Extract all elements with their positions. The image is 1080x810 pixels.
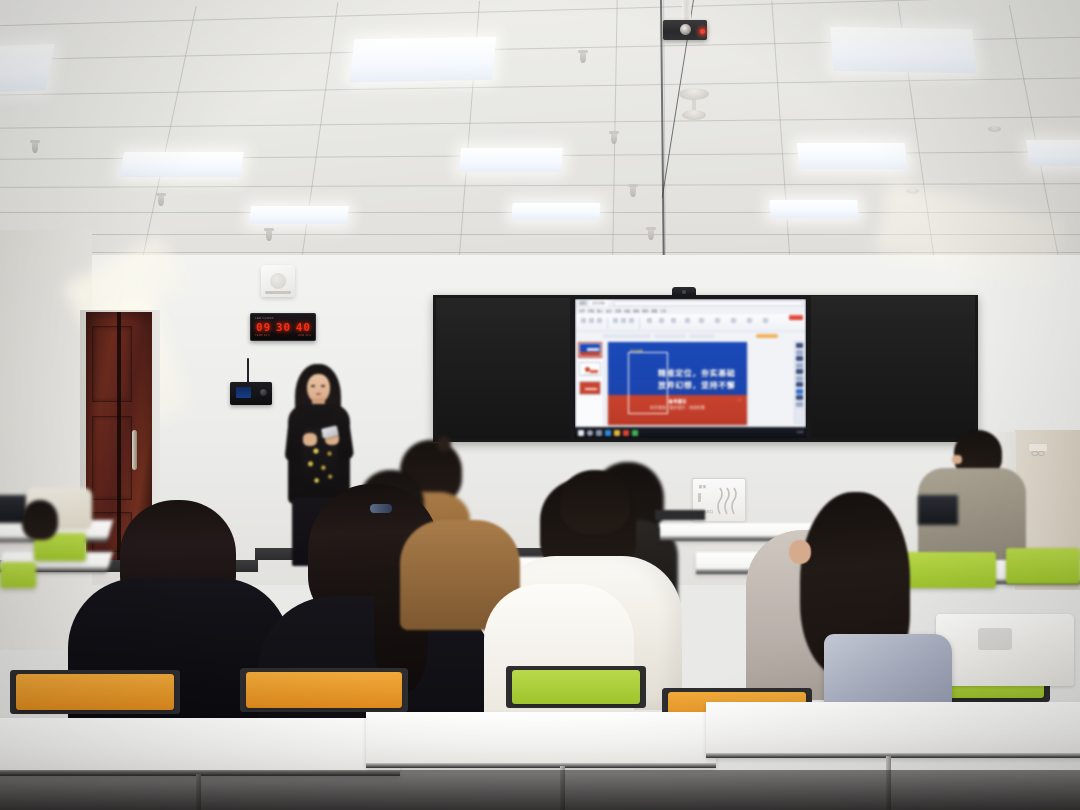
- mic-volume-knob[interactable]: [260, 389, 267, 396]
- slide-thumbnail[interactable]: [579, 381, 601, 395]
- windows-taskbar[interactable]: 9:30: [575, 427, 806, 438]
- clock-temp-label: TEMP 23 C: [255, 334, 270, 339]
- laptop: [918, 495, 958, 525]
- pendant-speaker: [679, 88, 709, 100]
- wall-panel-label-top: 新风: [699, 484, 707, 489]
- slide-thumbnail[interactable]: [579, 343, 601, 357]
- slide-headline-line1: 精准定位，夯实基础: [658, 368, 741, 380]
- led-panel-light: [459, 148, 563, 172]
- menu-item-transition[interactable]: 切换: [615, 309, 621, 313]
- led-wall-clock: LED CLOCK 09 30 40 TEMP 23 C HUM 41%: [250, 313, 316, 341]
- desk: [0, 718, 400, 776]
- wps-icon[interactable]: [623, 430, 629, 436]
- side-toolbar[interactable]: [794, 341, 804, 424]
- task-view-icon[interactable]: [596, 430, 602, 436]
- slide-subtitle-block: 备考建议 科学规划 · 稳步提升 · 持续积累: [608, 392, 747, 412]
- floor-shadow: [0, 770, 1080, 810]
- sprinkler-head: [32, 140, 38, 153]
- clock-hours: 09: [256, 321, 271, 334]
- blackboard-wing-left: [436, 298, 570, 439]
- chair[interactable]: [512, 670, 640, 704]
- menu-bar[interactable]: 文件 开始 插入 设计 切换 动画 放映 审阅 视图 工具: [575, 307, 806, 314]
- led-panel-light: [797, 143, 907, 169]
- desk: [706, 702, 1080, 758]
- projector-status-led: [700, 29, 705, 34]
- slide-thumbnail[interactable]: [579, 362, 601, 376]
- sprinkler-head: [158, 193, 164, 206]
- airflow-wave-icon: [717, 486, 739, 516]
- led-panel-light: [350, 37, 497, 82]
- menu-item-insert[interactable]: 插入: [597, 309, 603, 313]
- slide-headline: 精准定位，夯实基础 放弃幻想，坚持不懈: [658, 368, 741, 391]
- wireless-mic-receiver[interactable]: [230, 382, 272, 405]
- hair-clip: [370, 504, 392, 513]
- mic-display: [236, 387, 251, 398]
- sprinkler-head: [630, 184, 636, 197]
- led-panel-light: [830, 27, 976, 73]
- side-tool-icon[interactable]: [796, 395, 803, 400]
- tab-home[interactable]: 首页: [578, 300, 588, 306]
- beautify-button[interactable]: [756, 334, 778, 338]
- side-tool-icon[interactable]: [796, 402, 803, 407]
- tab-document[interactable]: 演示文稿1: [590, 300, 608, 306]
- door-handle[interactable]: [132, 430, 137, 470]
- chair[interactable]: [1006, 548, 1080, 584]
- slide-canvas[interactable]: 备考策略 精准定位，夯实基础 放弃幻想，坚持不懈 备考建议 科学规划 · 稳步提…: [608, 342, 747, 425]
- sprinkler-head: [580, 50, 586, 63]
- chair[interactable]: [246, 672, 402, 708]
- clock-seconds: 40: [296, 321, 311, 334]
- slide-thumbnail-panel[interactable]: [577, 341, 604, 426]
- browser-icon[interactable]: [605, 430, 611, 436]
- menu-item-tools[interactable]: 工具: [660, 309, 666, 313]
- wall-speaker: [261, 265, 295, 297]
- desk: [366, 712, 716, 768]
- side-tool-icon[interactable]: [796, 376, 803, 381]
- led-panel-light: [249, 206, 349, 224]
- app-titlebar: 首页 演示文稿1: [575, 299, 806, 307]
- menu-item-slideshow[interactable]: 放映: [633, 309, 639, 313]
- interactive-display[interactable]: 首页 演示文稿1 文件 开始 插入 设计 切换 动画 放映 审阅 视图 工具: [573, 297, 808, 440]
- mic-antenna: [247, 358, 249, 383]
- slide-subtext: 科学规划 · 稳步提升 · 持续积累: [650, 405, 705, 410]
- classroom-scene: LED CLOCK 09 30 40 TEMP 23 C HUM 41% 首页 …: [0, 0, 1080, 810]
- led-panel-light: [769, 200, 858, 218]
- led-panel-light: [0, 44, 55, 92]
- led-panel-light: [512, 203, 601, 220]
- chair[interactable]: [900, 552, 996, 588]
- blackboard-wing-right: [811, 296, 975, 438]
- chair[interactable]: [0, 562, 36, 588]
- menu-item-animation[interactable]: 动画: [624, 309, 630, 313]
- menu-item-view[interactable]: 视图: [651, 309, 657, 313]
- file-explorer-icon[interactable]: [614, 430, 620, 436]
- breadcrumb: [603, 333, 778, 338]
- start-slideshow-button[interactable]: [789, 315, 803, 320]
- side-tool-icon[interactable]: [796, 369, 803, 374]
- desk: [655, 510, 705, 520]
- taskbar-clock[interactable]: 9:30: [797, 431, 803, 434]
- search-icon[interactable]: [587, 430, 593, 436]
- side-tool-icon[interactable]: [796, 356, 803, 361]
- conference-camera: [672, 287, 696, 297]
- slide-tag: 备考策略: [630, 349, 643, 353]
- ribbon-toolbar[interactable]: [575, 314, 806, 332]
- menu-item-design[interactable]: 设计: [606, 309, 612, 313]
- side-tool-icon[interactable]: [796, 382, 803, 387]
- side-tool-icon[interactable]: [796, 363, 803, 368]
- pendant-speaker: [682, 110, 706, 120]
- clock-minutes: 30: [276, 321, 291, 334]
- menu-item-home[interactable]: 开始: [588, 309, 594, 313]
- wall-notice-plate: [1028, 443, 1048, 452]
- smoke-detector: [988, 126, 1001, 132]
- clock-brand-label: LED CLOCK: [255, 316, 274, 320]
- glasses-icon: [1029, 450, 1047, 457]
- menu-item-review[interactable]: 审阅: [642, 309, 648, 313]
- wall-panel-slot: [698, 493, 701, 502]
- tote-bag: [936, 614, 1074, 686]
- side-tool-icon-active[interactable]: [796, 389, 803, 394]
- door-gap: [117, 312, 121, 560]
- slide-headline-line2: 放弃幻想，坚持不懈: [658, 380, 741, 392]
- side-tool-icon[interactable]: [796, 343, 803, 348]
- slide-page-number: - 4 -: [737, 398, 742, 402]
- presentation-window[interactable]: 首页 演示文稿1 文件 开始 插入 设计 切换 动画 放映 审阅 视图 工具: [575, 299, 806, 438]
- led-panel-light: [120, 152, 244, 177]
- presenter-hand-left: [303, 433, 317, 446]
- sprinkler-head: [266, 228, 272, 241]
- menu-item-file[interactable]: 文件: [579, 309, 585, 313]
- led-panel-light: [1026, 140, 1080, 166]
- clock-digits: 09 30 40: [256, 321, 311, 334]
- wechat-icon[interactable]: [632, 430, 638, 436]
- side-tool-icon[interactable]: [796, 350, 803, 355]
- start-button-icon[interactable]: [578, 430, 584, 436]
- projector-lens-icon: [680, 24, 691, 35]
- search-input[interactable]: [613, 301, 803, 306]
- chair[interactable]: [16, 674, 174, 710]
- sprinkler-head: [611, 131, 617, 144]
- clock-humidity-label: HUM 41%: [298, 334, 311, 339]
- sprinkler-head: [648, 227, 654, 240]
- slide-subtitle: 备考建议: [669, 399, 687, 404]
